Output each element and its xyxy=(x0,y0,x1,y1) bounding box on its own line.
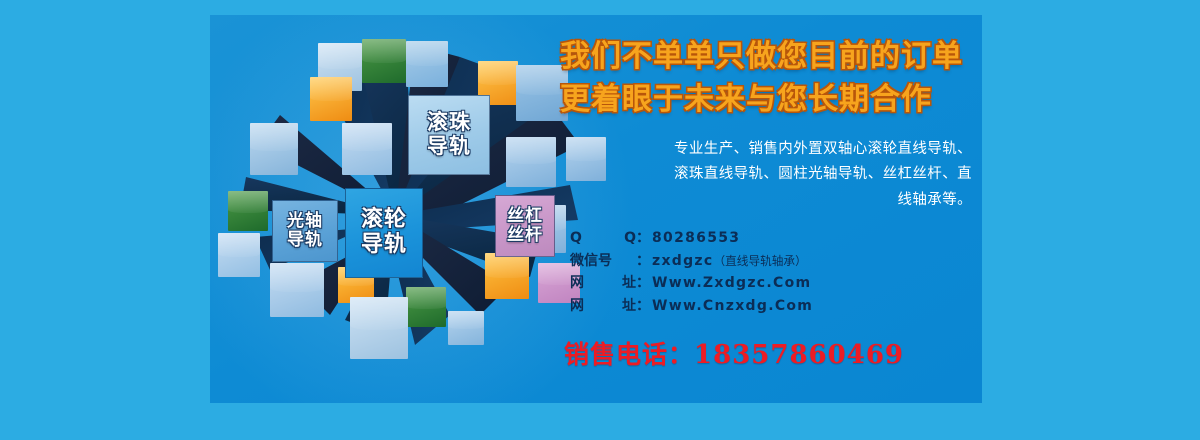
contact-key-part-a: 网 xyxy=(570,272,584,295)
cube-face xyxy=(506,137,556,187)
contact-colon: ： xyxy=(636,227,650,250)
sales-phone-number[interactable]: 18357860469 xyxy=(694,340,904,370)
product-label-line1: 滚珠 xyxy=(427,111,471,135)
headline-line-1: 我们不单单只做您目前的订单 xyxy=(560,37,972,76)
intro-paragraph: 专业生产、销售内外置双轴心滚轮直线导轨、 滚珠直线导轨、圆柱光轴导轨、丝杠丝杆、… xyxy=(560,137,972,213)
contact-key: 网 址 xyxy=(570,295,636,318)
product-label-line1: 滚轮 xyxy=(361,208,407,233)
cube-face xyxy=(342,123,392,175)
cube-face xyxy=(310,77,352,121)
contact-key: 网 址 xyxy=(570,272,636,295)
product-label-line2: 导轨 xyxy=(361,233,407,258)
contact-value-website-2[interactable]: Www.Cnzxdg.Com xyxy=(652,295,813,318)
contact-colon: ： xyxy=(636,250,650,273)
product-label-line2: 丝杆 xyxy=(507,226,543,245)
contact-row-qq: Q Q ： 80286553 xyxy=(560,227,972,250)
contact-row-wechat: 微信号 ： zxdgzc （直线导轨轴承） xyxy=(560,250,972,273)
contact-value-website-1[interactable]: Www.Zxdgzc.Com xyxy=(652,272,811,295)
sales-phone[interactable]: 销售电话：18357860469 xyxy=(560,335,972,371)
intro-line-3: 线轴承等。 xyxy=(560,188,972,213)
contact-note-wechat: （直线导轨轴承） xyxy=(713,252,806,271)
cube-face xyxy=(228,191,268,231)
contact-key-part-b: 址 xyxy=(622,272,636,295)
contact-row-website-2: 网 址 ： Www.Cnzxdg.Com xyxy=(560,295,972,318)
contact-key-part-b: 址 xyxy=(622,295,636,318)
headline-line-2: 更着眼于未来与您长期合作 xyxy=(560,80,972,119)
product-label-gunlun-daogui: 滚轮 导轨 xyxy=(345,188,423,278)
product-label-guangzhou-daogui: 光轴 导轨 xyxy=(272,200,338,262)
contact-colon: ： xyxy=(636,272,650,295)
contact-key-part-b: Q xyxy=(624,227,636,250)
banner-inner-panel: 滚珠 导轨 光轴 导轨 滚轮 导轨 丝杠 丝杆 我们不单单只做您目前的订单 更着… xyxy=(210,15,982,403)
product-label-line1: 光轴 xyxy=(287,212,323,231)
contact-key-part-a: Q xyxy=(570,227,582,250)
product-label-gunzhu-daogui: 滚珠 导轨 xyxy=(408,95,490,175)
cube-face xyxy=(406,287,446,327)
intro-line-2: 滚珠直线导轨、圆柱光轴导轨、丝杠丝杆、直 xyxy=(560,162,972,187)
cube-face xyxy=(406,41,448,87)
product-label-line2: 导轨 xyxy=(287,231,323,250)
contact-key: Q Q xyxy=(570,227,636,250)
contact-key: 微信号 xyxy=(570,250,636,273)
contact-value-wechat[interactable]: zxdgzc xyxy=(652,250,713,273)
product-label-line2: 导轨 xyxy=(427,135,471,159)
cube-face xyxy=(218,233,260,277)
banner-copy-column: 我们不单单只做您目前的订单 更着眼于未来与您长期合作 专业生产、销售内外置双轴心… xyxy=(560,37,972,371)
product-label-line1: 丝杠 xyxy=(507,207,543,226)
intro-line-1: 专业生产、销售内外置双轴心滚轮直线导轨、 xyxy=(560,137,972,162)
cube-face xyxy=(350,297,408,359)
contact-value-qq[interactable]: 80286553 xyxy=(652,227,740,250)
promo-banner: 滚珠 导轨 光轴 导轨 滚轮 导轨 丝杠 丝杆 我们不单单只做您目前的订单 更着… xyxy=(0,0,1200,440)
cube-face xyxy=(448,311,484,345)
cube-face xyxy=(362,39,406,83)
contact-key-part-a: 微信号 xyxy=(570,250,612,273)
cube-face xyxy=(250,123,298,175)
contact-row-website-1: 网 址 ： Www.Zxdgzc.Com xyxy=(560,272,972,295)
contact-block: Q Q ： 80286553 微信号 ： zxdgzc （直线导轨轴承） xyxy=(560,227,972,318)
contact-colon: ： xyxy=(636,295,650,318)
cube-face xyxy=(485,253,529,299)
sales-phone-label: 销售电话： xyxy=(564,340,694,369)
product-label-sigang-sigan: 丝杠 丝杆 xyxy=(495,195,555,257)
cube-face xyxy=(270,263,324,317)
contact-key-part-a: 网 xyxy=(570,295,584,318)
